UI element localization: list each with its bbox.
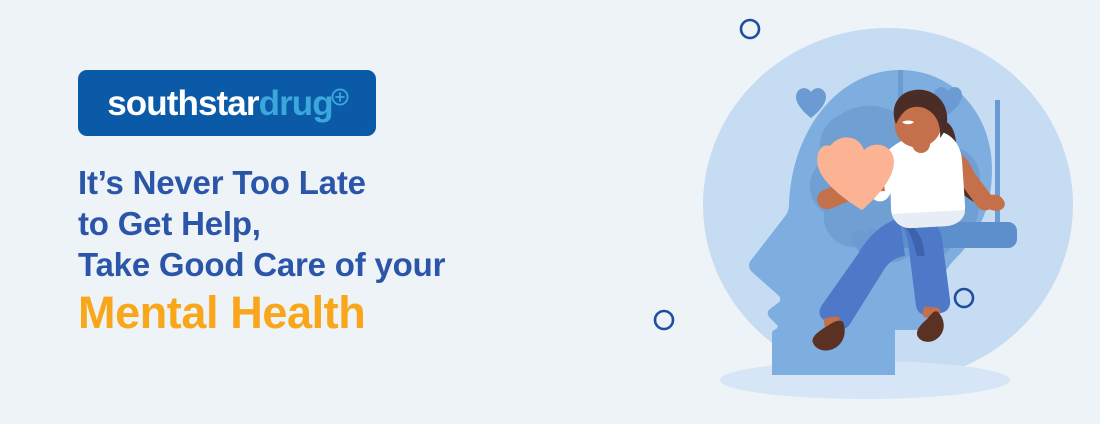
plus-in-circle-icon [331,77,349,95]
decor-circle-left [655,311,673,329]
southstar-drug-logo[interactable]: southstardrug [78,70,376,136]
logo-wordmark: southstardrug [107,86,347,121]
logo-text-southstar: southstar [107,84,258,123]
logo-text-drug: drug [259,84,333,123]
headline-block: It’s Never Too Late to Get Help, Take Go… [78,162,598,340]
headline-line-3: Take Good Care of your [78,244,598,285]
headline-line-2: to Get Help, [78,203,598,244]
decor-circle-top [741,20,759,38]
headline-accent-mental-health: Mental Health [78,286,598,340]
mental-health-banner: southstardrug It’s Never Too Late to Get… [0,0,1100,424]
mental-health-illustration [600,0,1100,424]
headline-line-1: It’s Never Too Late [78,162,598,203]
banner-text-column: southstardrug It’s Never Too Late to Get… [78,0,598,424]
